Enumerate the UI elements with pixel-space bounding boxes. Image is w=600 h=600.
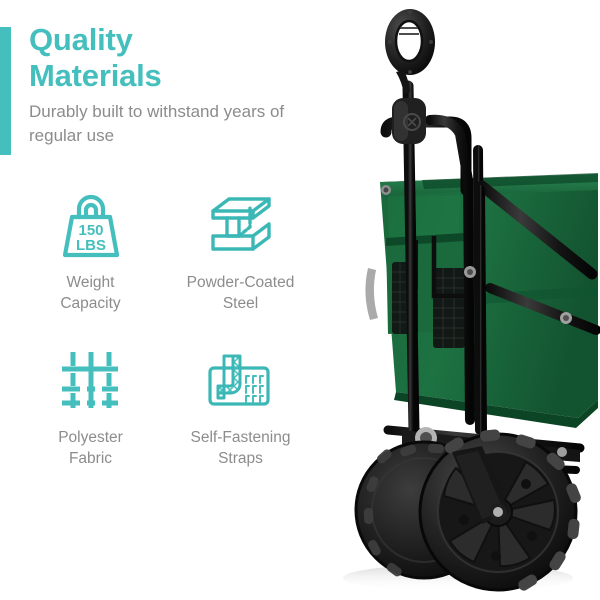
hook-loop-strap-icon: [202, 345, 280, 417]
feature-grid: 150 LBS Weight Capacity: [18, 190, 318, 500]
feature-label-polyester-fabric: Polyester Fabric: [58, 427, 123, 469]
woven-fabric-icon: [56, 345, 126, 417]
i-beam-icon: [203, 190, 279, 262]
title-line-1: Quality: [29, 22, 309, 58]
feature-item-self-fastening-straps: Self-Fastening Straps: [163, 345, 318, 500]
subtitle: Durably built to withstand years of regu…: [29, 100, 299, 148]
feature-item-powder-coated-steel: Powder-Coated Steel: [163, 190, 318, 345]
telescoping-handle-pivot: [392, 98, 426, 144]
accent-bar: [0, 27, 11, 155]
feature-label-weight-capacity: Weight Capacity: [60, 272, 120, 314]
feature-label-powder-coated-steel: Powder-Coated Steel: [187, 272, 295, 314]
feature-label-self-fastening-straps: Self-Fastening Straps: [191, 427, 291, 469]
feature-item-polyester-fabric: Polyester Fabric: [18, 345, 163, 500]
page-title: Quality Materials: [29, 22, 309, 94]
info-panel: Quality Materials Durably built to withs…: [0, 0, 330, 600]
weight-bag-icon: 150 LBS: [55, 190, 127, 262]
product-photo-folding-utility-wagon: [330, 0, 600, 600]
title-line-2: Materials: [29, 58, 309, 94]
weight-unit-lbs: LBS: [76, 237, 106, 254]
product-feature-infographic: Quality Materials Durably built to withs…: [0, 0, 600, 600]
feature-item-weight-capacity: 150 LBS Weight Capacity: [18, 190, 163, 345]
